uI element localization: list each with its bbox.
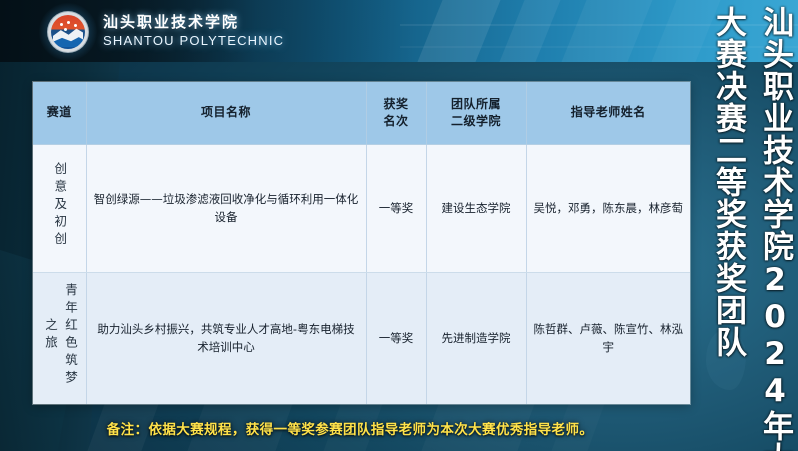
cell-project-text: 智创绿源——垃圾渗滤液回收净化与循环利用一体化设备	[94, 190, 359, 226]
award-table: 赛道 项目名称 获奖 名次 团队所属 二级学院 指导老师姓名 创意	[33, 82, 690, 404]
logo-star-1	[60, 23, 63, 26]
cell-college: 先进制造学院	[426, 272, 526, 404]
col-header-award-line2: 名次	[367, 113, 426, 130]
col-header-college-line1: 团队所属	[427, 96, 526, 113]
col-header-track: 赛道	[33, 82, 86, 144]
cell-college: 建设生态学院	[426, 144, 526, 272]
logo-inner-disc	[51, 15, 85, 49]
footer-area: 备注：依据大赛规程，获得一等奖参赛团队指导老师为本次大赛优秀指导老师。	[0, 404, 798, 451]
col-header-teachers: 指导老师姓名	[526, 82, 690, 144]
institution-name-block: 汕头职业技术学院 SHANTOU POLYTECHNIC	[103, 13, 284, 49]
cell-track: 青年红色筑梦之旅	[33, 272, 86, 404]
cell-teachers: 吴悦，邓勇，陈东晨，林彦萄	[526, 144, 690, 272]
world-map-blob-4	[706, 330, 746, 390]
table-row: 青年红色筑梦之旅 助力汕头乡村振兴，共筑专业人才高地-粤东电梯技术培训中心 一等…	[33, 272, 690, 404]
shantou-polytechnic-emblem-icon	[48, 12, 88, 52]
cell-teachers: 陈哲群、卢薇、陈宣竹、林泓宇	[526, 272, 690, 404]
col-header-award-line1: 获奖	[367, 96, 426, 113]
cell-project: 智创绿源——垃圾渗滤液回收净化与循环利用一体化设备	[86, 144, 366, 272]
cell-project-text: 助力汕头乡村振兴，共筑专业人才高地-粤东电梯技术培训中心	[94, 320, 359, 356]
table-head: 赛道 项目名称 获奖 名次 团队所属 二级学院 指导老师姓名	[33, 82, 690, 144]
cell-track: 创意及初创	[33, 144, 86, 272]
logo-star-2	[67, 21, 70, 24]
cell-award: 一等奖	[366, 144, 426, 272]
table-body: 创意及初创 智创绿源——垃圾渗滤液回收净化与循环利用一体化设备 一等奖 建设生态…	[33, 144, 690, 404]
table-header-row: 赛道 项目名称 获奖 名次 团队所属 二级学院 指导老师姓名	[33, 82, 690, 144]
cell-project: 助力汕头乡村振兴，共筑专业人才高地-粤东电梯技术培训中心	[86, 272, 366, 404]
col-header-college: 团队所属 二级学院	[426, 82, 526, 144]
table-row: 创意及初创 智创绿源——垃圾渗滤液回收净化与循环利用一体化设备 一等奖 建设生态…	[33, 144, 690, 272]
col-header-college-line2: 二级学院	[427, 113, 526, 130]
institution-name-en: SHANTOU POLYTECHNIC	[103, 33, 284, 49]
col-header-project: 项目名称	[86, 82, 366, 144]
footer-note: 备注：依据大赛规程，获得一等奖参赛团队指导老师为本次大赛优秀指导老师。	[0, 418, 700, 438]
col-header-award: 获奖 名次	[366, 82, 426, 144]
cell-track-text: 青年红色筑梦之旅	[40, 281, 80, 391]
cell-track-text: 创意及初创	[49, 162, 69, 250]
slide-canvas: 汕头职业技术学院 SHANTOU POLYTECHNIC 汕头职业技术学院202…	[0, 0, 798, 451]
logo-star-3	[74, 24, 77, 27]
award-table-element: 赛道 项目名称 获奖 名次 团队所属 二级学院 指导老师姓名 创意	[33, 82, 690, 404]
institution-name-cn: 汕头职业技术学院	[103, 13, 284, 31]
cell-award: 一等奖	[366, 272, 426, 404]
page-header-bar: 汕头职业技术学院 SHANTOU POLYTECHNIC	[0, 0, 798, 62]
logo-star-4	[64, 28, 67, 31]
